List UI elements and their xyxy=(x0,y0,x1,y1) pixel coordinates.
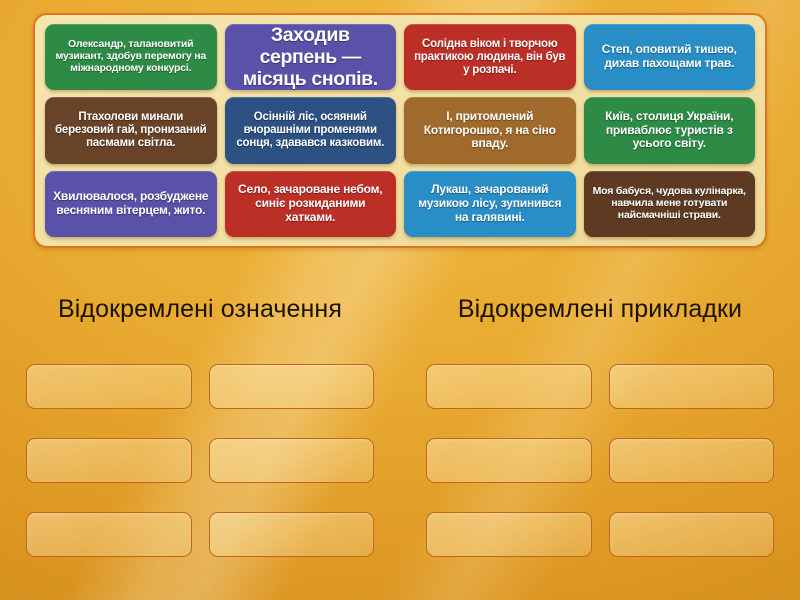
sentence-tile-label: Солідна віком і творчою практикою людина… xyxy=(410,38,570,77)
category-column-1: Відокремлені означення xyxy=(0,295,400,324)
sentence-tile[interactable]: Хвилювалося, розбуджене весняним вітерце… xyxy=(45,171,217,237)
sentence-tile-label: Птахолови минали березовий гай, пронизан… xyxy=(51,111,211,150)
tile-grid: Олександр, талановитий музикант, здобув … xyxy=(45,24,755,237)
dropzone-area xyxy=(0,364,800,557)
sentence-tile[interactable]: Степ, оповитий тишею, дихав пахощами тра… xyxy=(584,24,756,90)
dropzone-slot[interactable] xyxy=(26,438,192,483)
category-column-2: Відокремлені прикладки xyxy=(400,295,800,324)
dropzone-slot[interactable] xyxy=(26,364,192,409)
sentence-tile[interactable]: Олександр, талановитий музикант, здобув … xyxy=(45,24,217,90)
sentence-tile-label: Хвилювалося, розбуджене весняним вітерце… xyxy=(51,190,211,217)
dropzone-slot[interactable] xyxy=(26,512,192,557)
sentence-tile[interactable]: Моя бабуся, чудова кулінарка, навчила ме… xyxy=(584,171,756,237)
sentence-tile-label: Олександр, талановитий музикант, здобув … xyxy=(51,39,211,75)
word-bank-panel: Олександр, талановитий музикант, здобув … xyxy=(33,13,767,248)
sentence-tile[interactable]: Лукаш, зачарований музикою лісу, зупинив… xyxy=(404,171,576,237)
sentence-tile-label: Моя бабуся, чудова кулінарка, навчила ме… xyxy=(590,186,750,222)
sentence-tile[interactable]: Заходив серпень — місяць снопів. xyxy=(225,24,397,90)
sentence-tile-label: Степ, оповитий тишею, дихав пахощами тра… xyxy=(590,43,750,70)
sentence-tile[interactable]: Осінній ліс, осяяний вчорашніми променям… xyxy=(225,97,397,163)
dropzone-slot[interactable] xyxy=(426,364,592,409)
sentence-tile-label: Заходив серпень — місяць снопів. xyxy=(231,24,391,90)
dropzone-slot[interactable] xyxy=(426,438,592,483)
sentence-tile[interactable]: Село, зачароване небом, синіє розкиданим… xyxy=(225,171,397,237)
sentence-tile[interactable]: Київ, столиця України, приваблює туристі… xyxy=(584,97,756,163)
sentence-tile-label: І, притомлений Котигорошко, я на сіно вп… xyxy=(410,110,570,151)
sentence-tile-label: Лукаш, зачарований музикою лісу, зупинив… xyxy=(410,183,570,224)
sentence-tile-label: Осінній ліс, осяяний вчорашніми променям… xyxy=(231,111,391,150)
dropzone-group-1 xyxy=(0,364,400,557)
category-title-1: Відокремлені означення xyxy=(58,295,342,324)
dropzone-slot[interactable] xyxy=(209,364,375,409)
dropzone-slot[interactable] xyxy=(609,512,775,557)
sentence-tile[interactable]: Птахолови минали березовий гай, пронизан… xyxy=(45,97,217,163)
category-headings: Відокремлені означення Відокремлені прик… xyxy=(0,295,800,324)
sentence-tile[interactable]: Солідна віком і творчою практикою людина… xyxy=(404,24,576,90)
dropzone-slot[interactable] xyxy=(426,512,592,557)
dropzone-slot[interactable] xyxy=(609,438,775,483)
dropzone-slot[interactable] xyxy=(209,438,375,483)
sentence-tile[interactable]: І, притомлений Котигорошко, я на сіно вп… xyxy=(404,97,576,163)
dropzone-slot[interactable] xyxy=(209,512,375,557)
activity-stage: Олександр, талановитий музикант, здобув … xyxy=(0,0,800,600)
dropzone-group-2 xyxy=(400,364,800,557)
sentence-tile-label: Київ, столиця України, приваблює туристі… xyxy=(590,110,750,151)
category-title-2: Відокремлені прикладки xyxy=(458,295,742,324)
dropzone-slot[interactable] xyxy=(609,364,775,409)
sentence-tile-label: Село, зачароване небом, синіє розкиданим… xyxy=(231,183,391,224)
